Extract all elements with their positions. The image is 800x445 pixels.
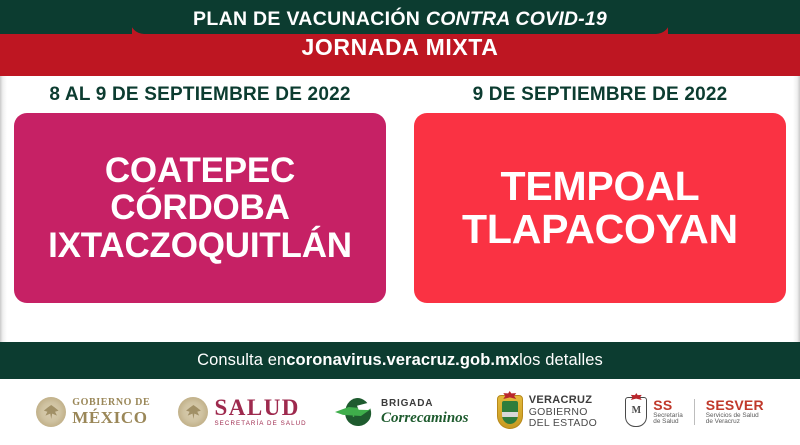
veracruz-line3: DEL ESTADO <box>529 418 597 429</box>
roadrunner-bird-icon <box>335 397 375 427</box>
logo-salud: SALUD SECRETARÍA DE SALUD <box>178 396 306 427</box>
salud-line2: SECRETARÍA DE SALUD <box>214 421 306 427</box>
gobierno-line2: MÉXICO <box>72 409 150 426</box>
header-green-tab: PLAN DE VACUNACIÓN CONTRA COVID-19 <box>130 0 670 34</box>
ss-text: SS Secretaría de Salud <box>653 398 682 426</box>
consulta-prefix: Consulta en <box>197 351 286 370</box>
logo-divider <box>694 399 695 425</box>
mexican-eagle-seal-icon <box>178 397 208 427</box>
city-name: TLAPACOYAN <box>462 208 738 251</box>
logo-ss-sesver: M SS Secretaría de Salud SESVER Servicio… <box>625 397 763 427</box>
veracruz-coat-of-arms-icon <box>497 395 523 429</box>
header-band: PLAN DE VACUNACIÓN CONTRA COVID-19 JORNA… <box>0 0 800 76</box>
gobierno-text: GOBIERNO DE MÉXICO <box>72 398 150 426</box>
city-name: CÓRDOBA <box>110 189 289 226</box>
column-right: 9 DE SEPTIEMBRE DE 2022 TEMPOAL TLAPACOY… <box>400 76 800 342</box>
mexican-eagle-seal-icon <box>36 397 66 427</box>
logo-bar: GOBIERNO DE MÉXICO SALUD SECRETARÍA DE S… <box>0 379 800 445</box>
sesver-text: SESVER Servicios de Salud de Veracruz <box>706 398 764 426</box>
date-label-left: 8 AL 9 DE SEPTIEMBRE DE 2022 <box>49 85 350 104</box>
header-strip-left <box>0 0 132 34</box>
plan-title-main: PLAN DE VACUNACIÓN <box>193 8 426 30</box>
city-card-left: COATEPEC CÓRDOBA IXTACZOQUITLÁN <box>14 113 386 303</box>
date-label-right: 9 DE SEPTIEMBRE DE 2022 <box>473 85 728 104</box>
ss-shield-icon: M <box>625 397 647 427</box>
logo-gobierno-de-mexico: GOBIERNO DE MÉXICO <box>36 397 150 427</box>
logo-veracruz-gobierno: VERACRUZ GOBIERNO DEL ESTADO <box>497 395 597 430</box>
city-name: IXTACZOQUITLÁN <box>48 227 352 264</box>
ss-line1: SS <box>653 398 682 413</box>
consulta-url[interactable]: coronavirus.veracruz.gob.mx <box>286 351 519 370</box>
logo-brigada-correcaminos: BRIGADA Correcaminos <box>335 397 469 427</box>
sesver-line1: SESVER <box>706 398 764 413</box>
column-left: 8 AL 9 DE SEPTIEMBRE DE 2022 COATEPEC CÓ… <box>0 76 400 342</box>
left-edge-shadow <box>0 76 7 342</box>
columns-area: 8 AL 9 DE SEPTIEMBRE DE 2022 COATEPEC CÓ… <box>0 76 800 342</box>
jornada-subtitle: JORNADA MIXTA <box>0 36 800 59</box>
header-strip-right <box>668 0 800 34</box>
salud-line1: SALUD <box>214 396 306 419</box>
veracruz-line1: VERACRUZ <box>529 395 597 407</box>
consulta-band: Consulta en coronavirus.veracruz.gob.mx … <box>0 342 800 379</box>
veracruz-text: VERACRUZ GOBIERNO DEL ESTADO <box>529 395 597 430</box>
plan-title-emphasis: CONTRA COVID-19 <box>426 8 607 30</box>
gobierno-line1: GOBIERNO DE <box>72 398 150 408</box>
ss-line3: de Salud <box>653 419 682 426</box>
right-edge-shadow <box>793 76 800 342</box>
plan-title: PLAN DE VACUNACIÓN CONTRA COVID-19 <box>193 10 607 30</box>
brigada-line2: Correcaminos <box>381 411 469 426</box>
brigada-line1: BRIGADA <box>381 399 469 409</box>
poster: PLAN DE VACUNACIÓN CONTRA COVID-19 JORNA… <box>0 0 800 445</box>
city-name: COATEPEC <box>105 152 295 189</box>
consulta-suffix: los detalles <box>519 351 603 370</box>
sesver-line3: de Veracruz <box>706 419 764 426</box>
city-name: TEMPOAL <box>500 165 699 208</box>
city-card-right: TEMPOAL TLAPACOYAN <box>414 113 786 303</box>
salud-text: SALUD SECRETARÍA DE SALUD <box>214 396 306 427</box>
brigada-text: BRIGADA Correcaminos <box>381 399 469 426</box>
